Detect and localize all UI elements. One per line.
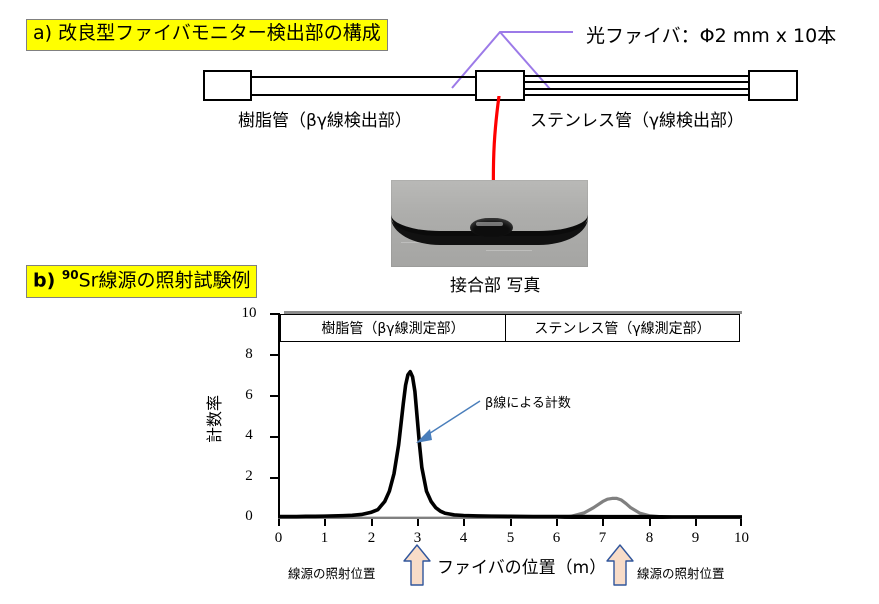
cable-sleeve [470,218,513,237]
source-position-label-left: 線源の照射位置 [288,563,376,582]
x-tick-label-7: 7 [590,530,615,547]
y-tick-label-10: 10 [236,305,262,322]
panel-a-title: a) 改良型ファイバモニター検出部の構成 [26,19,388,51]
beta-annotation-text: β線による計数 [485,396,571,411]
chart-y-axis-label: 計数率 [201,384,225,454]
fiber-callout-label: 光ファイバ：Φ2 mm x 10本 [586,21,836,48]
y-tick-4 [270,436,279,438]
beta-annotation-arrow-icon [408,396,488,448]
chart-x-axis-label: ファイバの位置（m） [437,553,606,578]
chart-y-axis [278,313,280,518]
photo-caption: 接合部 写真 [450,271,540,296]
legend-shadow [284,311,742,314]
y-tick-label-8: 8 [236,346,262,363]
source-position-label-right: 線源の照射位置 [637,563,725,582]
chart-x-axis [278,517,742,519]
y-tick-8 [270,354,279,356]
legend-item-resin-tube: 樹脂管（βγ線測定部） [281,315,506,341]
y-tick-6 [270,395,279,397]
y-tick-10 [270,313,279,315]
left-tube-upper-line [251,76,477,78]
left-end-box [203,70,252,101]
legend-item-stainless-tube-label: ステンレス管（γ線測定部） [534,318,710,338]
y-tick-label-2: 2 [236,468,262,485]
x-tick-label-5: 5 [498,530,523,547]
chart-y-axis-label-text: 計数率 [205,395,224,443]
panel-b-title-superscript: 90 [62,268,79,282]
chart-x-axis-label-text: ファイバの位置（m） [437,558,606,578]
x-tick-9 [695,517,697,526]
chart-x-axis-end-cap [740,517,742,526]
x-tick-label-9: 9 [683,530,708,547]
panel-a-title-text: a) 改良型ファイバモニター検出部の構成 [33,22,381,44]
beta-curve [278,372,742,517]
right-end-box [748,70,798,101]
photo-caption-text: 接合部 写真 [450,276,540,296]
x-tick-label-0: 0 [266,530,291,547]
x-tick-label-4: 4 [451,530,476,547]
panel-b-title-prefix: b) [33,269,62,291]
x-tick-7 [602,517,604,526]
x-tick-label-2: 2 [359,530,384,547]
right-tube-line-4 [524,94,750,96]
x-tick-1 [324,517,326,526]
x-tick-label-6: 6 [544,530,569,547]
legend-item-resin-tube-label: 樹脂管（βγ線測定部） [321,318,464,338]
right-tube-label: ステンレス管（γ線検出部） [530,106,744,131]
x-tick-label-8: 8 [637,530,662,547]
chart-plot-curves [278,313,742,519]
y-tick-label-6: 6 [236,387,262,404]
joint-photo [391,180,588,267]
y-tick-2 [270,477,279,479]
y-tick-label-4: 4 [236,427,262,444]
panel-b-title: b) 90Sr線源の照射試験例 [26,265,257,298]
source-arrow-left-icon [402,543,432,587]
x-tick-4 [463,517,465,526]
panel-b-title-main: Sr線源の照射試験例 [79,269,251,291]
x-tick-8 [649,517,651,526]
right-tube-line-3 [524,88,750,90]
right-tube-line-1 [524,75,750,77]
y-tick-label-0: 0 [236,508,262,525]
source-arrow-right-icon [605,543,635,587]
x-tick-3 [417,517,419,526]
left-tube-lower-line [251,94,477,96]
x-tick-2 [371,517,373,526]
x-tick-0 [278,517,280,526]
x-tick-label-1: 1 [312,530,337,547]
x-tick-5 [510,517,512,526]
right-tube-label-text: ステンレス管（γ線検出部） [530,111,744,131]
fiber-callout-text: 光ファイバ：Φ2 mm x 10本 [586,25,836,47]
x-tick-label-10: 10 [729,530,754,547]
beta-annotation-label: β線による計数 [485,392,571,411]
chart-legend: 樹脂管（βγ線測定部） ステンレス管（γ線測定部） [280,314,740,342]
source-position-right-text: 線源の照射位置 [637,566,725,581]
left-tube-label: 樹脂管（βγ線検出部） [238,106,412,131]
gamma-curve [278,498,742,518]
legend-item-stainless-tube: ステンレス管（γ線測定部） [506,315,739,341]
source-position-left-text: 線源の照射位置 [288,566,376,581]
left-tube-label-text: 樹脂管（βγ線検出部） [238,111,412,131]
x-tick-label-3: 3 [405,530,430,547]
right-tube-line-2 [524,81,750,83]
x-tick-6 [556,517,558,526]
